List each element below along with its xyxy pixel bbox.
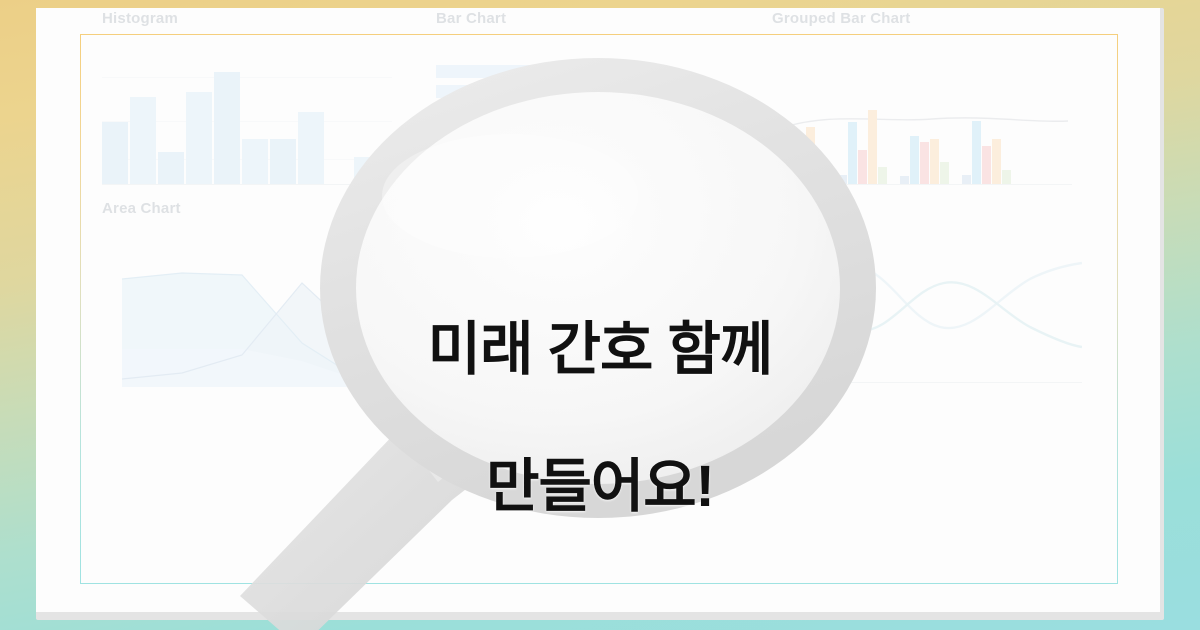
bar — [436, 65, 638, 78]
headline-line-1: 미래 간호 함께 — [330, 316, 870, 384]
plot-histogram — [102, 37, 392, 185]
panel-grouped-bar-chart: Grouped Bar Chart — [772, 10, 1092, 185]
bar — [436, 105, 716, 118]
bar — [838, 175, 847, 184]
bar — [214, 72, 240, 184]
panel-title-grouped-bar-chart: Grouped Bar Chart — [772, 10, 1092, 27]
bar — [436, 145, 470, 158]
panel-histogram: Histogram — [102, 10, 402, 185]
bar — [992, 139, 1001, 184]
bar — [354, 157, 380, 184]
bar — [848, 122, 857, 184]
bar-chart-bars — [436, 65, 716, 158]
bar — [816, 163, 825, 184]
bar — [776, 175, 785, 184]
grouped-bars — [776, 110, 1011, 184]
plot-bar-chart — [436, 37, 716, 185]
bar — [982, 146, 991, 184]
bar — [436, 125, 699, 138]
bar — [972, 121, 981, 184]
bar-group — [962, 121, 1011, 184]
histogram-bars — [102, 72, 408, 184]
panel-title-bar-chart: Bar Chart — [436, 10, 726, 27]
bar — [158, 152, 184, 184]
panel-title-histogram: Histogram — [102, 10, 402, 27]
bar — [270, 139, 296, 184]
headline: 미래 간호 함께 만들어요! — [330, 248, 870, 590]
panel-title-line-chart: Line Chart — [772, 200, 1092, 217]
bar — [920, 142, 929, 184]
bar — [382, 157, 408, 184]
bar — [436, 85, 537, 98]
bar-group — [838, 110, 887, 184]
bar — [242, 139, 268, 184]
bar — [930, 139, 939, 184]
bar — [102, 122, 128, 184]
bar-group — [900, 136, 949, 184]
bar-group — [776, 127, 825, 184]
axis-line — [102, 184, 392, 185]
panel-bar-chart: Bar Chart — [436, 10, 726, 185]
bar — [878, 167, 887, 184]
bar — [298, 112, 324, 184]
bar — [858, 150, 867, 184]
poster-canvas: Histogram — [0, 0, 1200, 630]
plot-grouped-bar-chart — [772, 37, 1072, 185]
bar — [186, 92, 212, 184]
bar — [130, 97, 156, 184]
bar — [1002, 170, 1011, 184]
bar — [796, 157, 805, 184]
headline-line-2: 만들어요! — [330, 453, 870, 521]
panel-title-stacked-area-chart: Stacked Area Chart — [436, 200, 736, 217]
bar — [940, 162, 949, 184]
bar — [962, 175, 971, 184]
bar — [868, 110, 877, 184]
bar — [806, 127, 815, 184]
bar — [910, 136, 919, 184]
bar — [900, 176, 909, 184]
panel-title-area-chart: Area Chart — [102, 200, 402, 217]
bar — [786, 141, 795, 184]
